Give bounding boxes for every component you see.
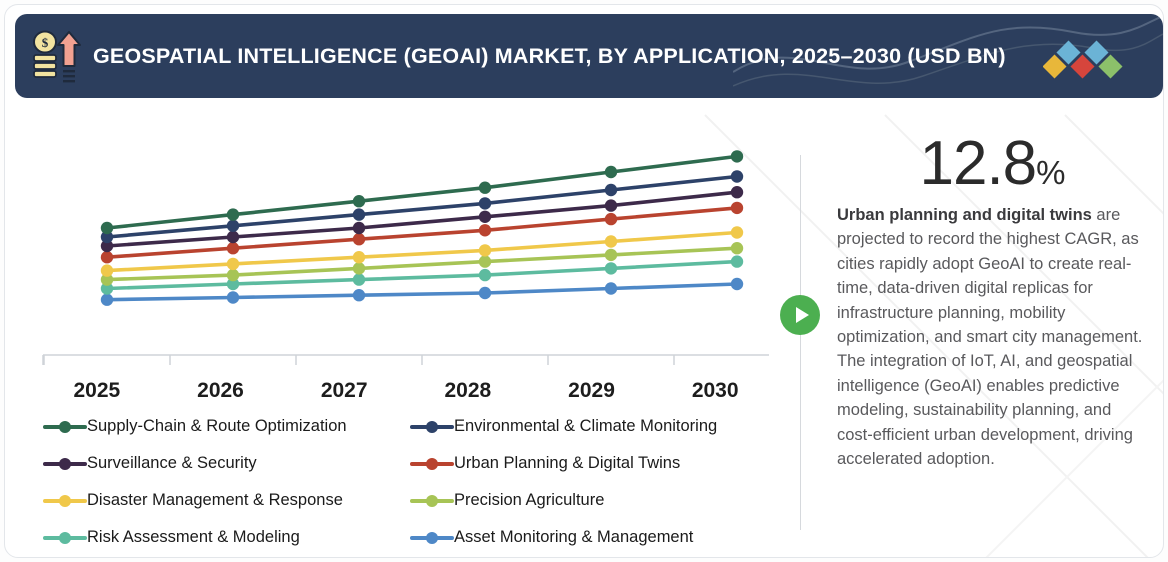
legend-label: Asset Monitoring & Management [454, 528, 693, 547]
legend-marker-icon [410, 493, 454, 509]
legend-marker-icon [410, 419, 454, 435]
x-axis-tick-labels: 2025 2026 2027 2028 2029 2030 [35, 379, 777, 417]
coins-growth-arrow-icon: $ [27, 28, 85, 84]
legend-item[interactable]: Risk Assessment & Modeling [43, 528, 410, 547]
legend-label: Supply-Chain & Route Optimization [87, 417, 347, 436]
content-card: $ GEOSPATIAL INTELLIGENCE (GEOAI) MARKET… [4, 4, 1164, 558]
legend-item[interactable]: Asset Monitoring & Management [410, 528, 777, 547]
legend-item[interactable]: Urban Planning & Digital Twins [410, 454, 777, 473]
legend-marker-icon [43, 419, 87, 435]
legend-item[interactable]: Precision Agriculture [410, 491, 777, 510]
infographic-page: $ GEOSPATIAL INTELLIGENCE (GEOAI) MARKET… [0, 0, 1168, 562]
legend-marker-icon [43, 530, 87, 546]
page-title: GEOSPATIAL INTELLIGENCE (GEOAI) MARKET, … [93, 14, 1006, 98]
x-tick-2026: 2026 [159, 379, 283, 417]
legend-label: Urban Planning & Digital Twins [454, 454, 680, 473]
cagr-percent-sign: % [1036, 154, 1064, 191]
line-chart-plot [35, 117, 777, 377]
header-bar: $ GEOSPATIAL INTELLIGENCE (GEOAI) MARKET… [15, 14, 1163, 98]
cagr-value: 12.8% [837, 133, 1147, 195]
chart-area: 2025 2026 2027 2028 2029 2030 Supply-Cha… [35, 117, 777, 547]
x-tick-2029: 2029 [530, 379, 654, 417]
legend-label: Precision Agriculture [454, 491, 604, 510]
legend-label: Risk Assessment & Modeling [87, 528, 300, 547]
play-circle-icon[interactable] [780, 295, 820, 335]
insight-panel: 12.8% Urban planning and digital twins a… [837, 133, 1147, 471]
x-tick-2027: 2027 [282, 379, 406, 417]
legend-item[interactable]: Disaster Management & Response [43, 491, 410, 510]
x-tick-2025: 2025 [35, 379, 159, 417]
play-triangle [796, 307, 809, 323]
legend-item[interactable]: Supply-Chain & Route Optimization [43, 417, 410, 436]
vertical-divider [800, 155, 801, 530]
cagr-number: 12.8 [919, 129, 1036, 198]
legend-marker-icon [410, 456, 454, 472]
legend-item[interactable]: Surveillance & Security [43, 454, 410, 473]
legend-item[interactable]: Environmental & Climate Monitoring [410, 417, 777, 436]
svg-text:$: $ [42, 35, 49, 50]
legend-label: Surveillance & Security [87, 454, 257, 473]
legend-marker-icon [43, 493, 87, 509]
insight-description-body: are projected to record the highest CAGR… [837, 206, 1142, 468]
x-tick-2030: 2030 [653, 379, 777, 417]
diamond-logo-icon [1043, 36, 1127, 82]
chart-legend: Supply-Chain & Route Optimization Enviro… [43, 417, 777, 547]
legend-marker-icon [410, 530, 454, 546]
legend-label: Environmental & Climate Monitoring [454, 417, 717, 436]
insight-description: Urban planning and digital twins are pro… [837, 203, 1147, 471]
legend-marker-icon [43, 456, 87, 472]
insight-description-highlight: Urban planning and digital twins [837, 206, 1092, 224]
x-tick-2028: 2028 [406, 379, 530, 417]
legend-label: Disaster Management & Response [87, 491, 343, 510]
